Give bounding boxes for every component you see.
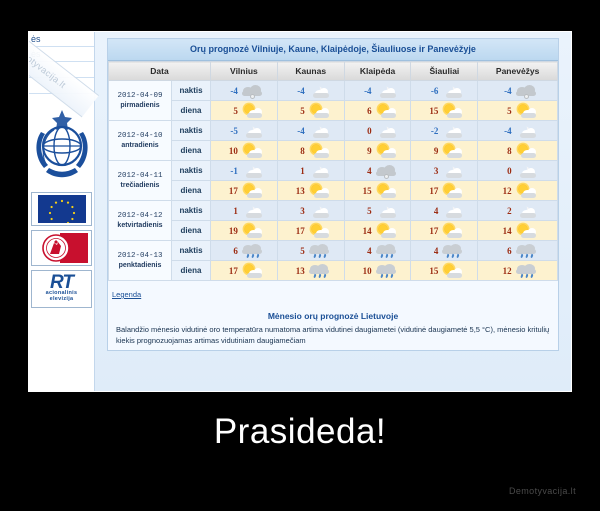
moon-cloud-icon <box>375 203 397 218</box>
forecast-cell: 17 <box>411 221 478 241</box>
sun-cloud-icon <box>515 143 537 158</box>
lrt-line2: elevizija <box>50 296 74 302</box>
temperature-value: 15 <box>425 266 438 276</box>
weekday-value: pirmadienis <box>109 101 171 111</box>
eu-flag-svg <box>38 195 86 223</box>
column-header-siauliai: Šiauliai <box>411 62 478 81</box>
lithuania-coat-of-arms-icon <box>31 230 92 266</box>
sidebar-item-1[interactable]: ės <box>29 32 94 47</box>
date-value: 2012-04-12 <box>117 212 162 220</box>
sun-cloud-icon <box>241 183 263 198</box>
forecast-cell: 10 <box>344 261 411 281</box>
date-value: 2012-04-11 <box>117 172 162 180</box>
column-header-data: Data <box>109 62 211 81</box>
table-row: diena108998 <box>109 141 558 161</box>
site-sidebar: ės ės <box>29 32 95 391</box>
moon-cloud-icon <box>241 163 263 178</box>
temperature-value: -4 <box>292 86 305 96</box>
weekday-value: trečiadienis <box>109 181 171 191</box>
sun-cloud-icon <box>441 143 463 158</box>
temperature-value: 17 <box>425 226 438 236</box>
sun-cloud-icon <box>375 143 397 158</box>
temperature-value: 14 <box>359 226 372 236</box>
forecast-cell: -4 <box>211 81 278 101</box>
moon-cloud-icon <box>375 123 397 138</box>
forecast-cell: 1 <box>277 161 344 181</box>
forecast-cell: 4 <box>411 241 478 261</box>
eu-flag-icon <box>31 192 92 226</box>
table-row: diena1713151712 <box>109 181 558 201</box>
table-row: 2012-04-13penktadienisnaktis65446 <box>109 241 558 261</box>
forecast-cell: 6 <box>344 101 411 121</box>
column-header-vilnius: Vilnius <box>211 62 278 81</box>
lrt-mark: RT <box>50 276 73 290</box>
overcast-cloud-icon <box>515 83 537 98</box>
forecast-cell: 4 <box>344 161 411 181</box>
temperature-value: 5 <box>359 206 372 216</box>
legend-link[interactable]: Legenda <box>112 290 141 299</box>
forecast-cell: -6 <box>411 81 478 101</box>
daypart-label-day: diena <box>172 181 211 201</box>
daypart-label-night: naktis <box>172 241 211 261</box>
temperature-value: 8 <box>292 146 305 156</box>
forecast-cell: 15 <box>344 181 411 201</box>
sidebar-item-2-label: ės <box>31 49 41 59</box>
forecast-cell: -4 <box>277 121 344 141</box>
temperature-value: 10 <box>225 146 238 156</box>
temperature-value: 6 <box>499 246 512 256</box>
forecast-cell: 4 <box>411 201 478 221</box>
temperature-value: 6 <box>225 246 238 256</box>
forecast-cell: 9 <box>411 141 478 161</box>
temperature-value: 4 <box>425 246 438 256</box>
wmo-emblem-svg <box>32 104 92 186</box>
temperature-value: 19 <box>225 226 238 236</box>
moon-cloud-icon <box>515 123 537 138</box>
moon-cloud-icon <box>441 83 463 98</box>
sun-cloud-icon <box>308 223 330 238</box>
moon-cloud-icon <box>441 123 463 138</box>
temperature-value: 5 <box>292 246 305 256</box>
sun-cloud-icon <box>241 263 263 278</box>
date-value: 2012-04-09 <box>117 92 162 100</box>
forecast-cell: 8 <box>277 141 344 161</box>
forecast-date: 2012-04-13penktadienis <box>109 241 172 281</box>
forecast-cell: 13 <box>277 261 344 281</box>
temperature-value: 4 <box>425 206 438 216</box>
forecast-cell: 17 <box>411 181 478 201</box>
moon-cloud-icon <box>441 163 463 178</box>
temperature-value: 3 <box>292 206 305 216</box>
temperature-value: 9 <box>359 146 372 156</box>
temperature-value: -2 <box>425 126 438 136</box>
sun-cloud-icon <box>308 143 330 158</box>
date-value: 2012-04-13 <box>117 252 162 260</box>
sun-cloud-icon <box>375 103 397 118</box>
forecast-cell: 10 <box>211 141 278 161</box>
temperature-value: -6 <box>425 86 438 96</box>
temperature-value: 12 <box>499 186 512 196</box>
sun-cloud-icon <box>308 103 330 118</box>
forecast-cell: 4 <box>344 241 411 261</box>
overcast-cloud-icon <box>241 83 263 98</box>
temperature-value: 13 <box>292 266 305 276</box>
forecast-cell: -2 <box>411 121 478 141</box>
sun-cloud-icon <box>375 223 397 238</box>
page-right-band <box>541 32 571 391</box>
lithuania-coat-svg <box>36 233 88 263</box>
daypart-label-day: diena <box>172 141 211 161</box>
sun-cloud-icon <box>441 263 463 278</box>
temperature-value: -4 <box>292 126 305 136</box>
temperature-value: -1 <box>225 166 238 176</box>
moon-cloud-icon <box>241 203 263 218</box>
forecast-table: Data Vilnius Kaunas Klaipėda Šiauliai Pa… <box>108 61 558 281</box>
forecast-table-body: 2012-04-09pirmadienisnaktis-4-4-4-6-4die… <box>109 81 558 281</box>
forecast-cell: 5 <box>277 241 344 261</box>
temperature-value: 17 <box>292 226 305 236</box>
demotivator-caption: Prasideda! <box>0 412 600 452</box>
forecast-cell: 3 <box>411 161 478 181</box>
sun-cloud-icon <box>441 103 463 118</box>
moon-cloud-icon <box>308 123 330 138</box>
temperature-value: 14 <box>499 226 512 236</box>
moon-cloud-icon <box>515 203 537 218</box>
month-forecast-text: Balandžio mėnesio vidutinė oro temperatū… <box>108 325 558 350</box>
main-content: Orų prognozė Vilniuje, Kaune, Klaipėdoje… <box>95 32 571 391</box>
forecast-cell: -4 <box>344 81 411 101</box>
forecast-cell: 5 <box>277 101 344 121</box>
sun-cloud-icon <box>241 143 263 158</box>
temperature-value: 4 <box>359 246 372 256</box>
rain-cloud-icon <box>515 243 537 258</box>
rain-cloud-icon <box>375 243 397 258</box>
temperature-value: 1 <box>292 166 305 176</box>
temperature-value: 0 <box>499 166 512 176</box>
sun-cloud-icon <box>241 223 263 238</box>
sun-cloud-icon <box>241 103 263 118</box>
moon-cloud-icon <box>308 163 330 178</box>
forecast-cell: 0 <box>344 121 411 141</box>
temperature-value: 15 <box>359 186 372 196</box>
daypart-label-night: naktis <box>172 161 211 181</box>
sidebar-divider-2 <box>29 78 94 94</box>
forecast-cell: -1 <box>211 161 278 181</box>
temperature-value: 5 <box>499 106 512 116</box>
browser-screenshot: ės ės <box>28 31 572 392</box>
rain-cloud-icon <box>308 263 330 278</box>
moon-cloud-icon <box>515 163 537 178</box>
sun-cloud-icon <box>308 183 330 198</box>
forecast-cell: -5 <box>211 121 278 141</box>
forecast-date: 2012-04-12ketvirtadienis <box>109 201 172 241</box>
temperature-value: 5 <box>225 106 238 116</box>
rain-cloud-icon <box>515 263 537 278</box>
rain-cloud-icon <box>308 243 330 258</box>
sidebar-item-1-label: ės <box>31 34 41 44</box>
temperature-value: -4 <box>225 86 238 96</box>
daypart-label-night: naktis <box>172 81 211 101</box>
table-row: 2012-04-09pirmadienisnaktis-4-4-4-6-4 <box>109 81 558 101</box>
forecast-cell: 1 <box>211 201 278 221</box>
table-header-row: Data Vilnius Kaunas Klaipėda Šiauliai Pa… <box>109 62 558 81</box>
forecast-cell: 17 <box>211 181 278 201</box>
legend-row: Legenda <box>108 281 558 304</box>
date-value: 2012-04-10 <box>117 132 162 140</box>
daypart-label-night: naktis <box>172 201 211 221</box>
column-header-kaunas: Kaunas <box>277 62 344 81</box>
month-forecast-title: Mėnesio orų prognozė Lietuvoje <box>108 304 558 325</box>
forecast-cell: 5 <box>211 101 278 121</box>
weekday-value: ketvirtadienis <box>109 221 171 231</box>
forecast-date: 2012-04-11trečiadienis <box>109 161 172 201</box>
temperature-value: 13 <box>292 186 305 196</box>
sun-cloud-icon <box>375 183 397 198</box>
forecast-cell: 19 <box>211 221 278 241</box>
table-row: 2012-04-12ketvirtadienisnaktis13542 <box>109 201 558 221</box>
daypart-label-day: diena <box>172 261 211 281</box>
temperature-value: 6 <box>359 106 372 116</box>
daypart-label-day: diena <box>172 101 211 121</box>
temperature-value: -4 <box>499 126 512 136</box>
temperature-value: 9 <box>425 146 438 156</box>
forecast-cell: 6 <box>211 241 278 261</box>
moon-cloud-icon <box>308 203 330 218</box>
column-header-klaipeda: Klaipėda <box>344 62 411 81</box>
wmo-emblem-icon <box>31 98 92 188</box>
forecast-date: 2012-04-10antradienis <box>109 121 172 161</box>
forecast-cell: 15 <box>411 261 478 281</box>
forecast-cell: 17 <box>211 261 278 281</box>
sun-cloud-icon <box>441 223 463 238</box>
temperature-value: 17 <box>225 266 238 276</box>
rain-cloud-icon <box>241 243 263 258</box>
table-row: diena1917141714 <box>109 221 558 241</box>
weekday-value: antradienis <box>109 141 171 151</box>
sidebar-divider-1 <box>29 62 94 78</box>
temperature-value: 4 <box>359 166 372 176</box>
daypart-label-day: diena <box>172 221 211 241</box>
forecast-date: 2012-04-09pirmadienis <box>109 81 172 121</box>
weekday-value: penktadienis <box>109 261 171 271</box>
forecast-cell: 3 <box>277 201 344 221</box>
temperature-value: 5 <box>292 106 305 116</box>
temperature-value: 17 <box>225 186 238 196</box>
sun-cloud-icon <box>441 183 463 198</box>
site-attribution: Demotyvacija.lt <box>509 486 576 496</box>
rain-cloud-icon <box>375 263 397 278</box>
sidebar-item-2[interactable]: ės <box>29 47 94 62</box>
rain-cloud-icon <box>441 243 463 258</box>
lrt-logo: RT acionalinis elevizija <box>31 270 92 308</box>
forecast-cell: 13 <box>277 181 344 201</box>
temperature-value: 10 <box>359 266 372 276</box>
temperature-value: 8 <box>499 146 512 156</box>
temperature-value: 0 <box>359 126 372 136</box>
temperature-value: -4 <box>499 86 512 96</box>
moon-cloud-icon <box>308 83 330 98</box>
sun-cloud-icon <box>515 223 537 238</box>
forecast-cell: 15 <box>411 101 478 121</box>
temperature-value: 1 <box>225 206 238 216</box>
table-row: diena556155 <box>109 101 558 121</box>
temperature-value: 17 <box>425 186 438 196</box>
temperature-value: 15 <box>425 106 438 116</box>
temperature-value: 2 <box>499 206 512 216</box>
forecast-cell: 9 <box>344 141 411 161</box>
temperature-value: 3 <box>425 166 438 176</box>
moon-cloud-icon <box>241 123 263 138</box>
overcast-cloud-icon <box>375 163 397 178</box>
moon-cloud-icon <box>441 203 463 218</box>
table-row: 2012-04-11trečiadienisnaktis-11430 <box>109 161 558 181</box>
forecast-cell: 17 <box>277 221 344 241</box>
temperature-value: 12 <box>499 266 512 276</box>
forecast-panel: Orų prognozė Vilniuje, Kaune, Klaipėdoje… <box>107 38 559 351</box>
moon-cloud-icon <box>375 83 397 98</box>
forecast-cell: -4 <box>277 81 344 101</box>
daypart-label-night: naktis <box>172 121 211 141</box>
temperature-value: -5 <box>225 126 238 136</box>
forecast-cell: 14 <box>344 221 411 241</box>
sun-cloud-icon <box>515 183 537 198</box>
panel-title: Orų prognozė Vilniuje, Kaune, Klaipėdoje… <box>108 39 558 61</box>
temperature-value: -4 <box>359 86 372 96</box>
table-row: 2012-04-10antradienisnaktis-5-40-2-4 <box>109 121 558 141</box>
forecast-cell: 5 <box>344 201 411 221</box>
table-row: diena1713101512 <box>109 261 558 281</box>
sun-cloud-icon <box>515 103 537 118</box>
